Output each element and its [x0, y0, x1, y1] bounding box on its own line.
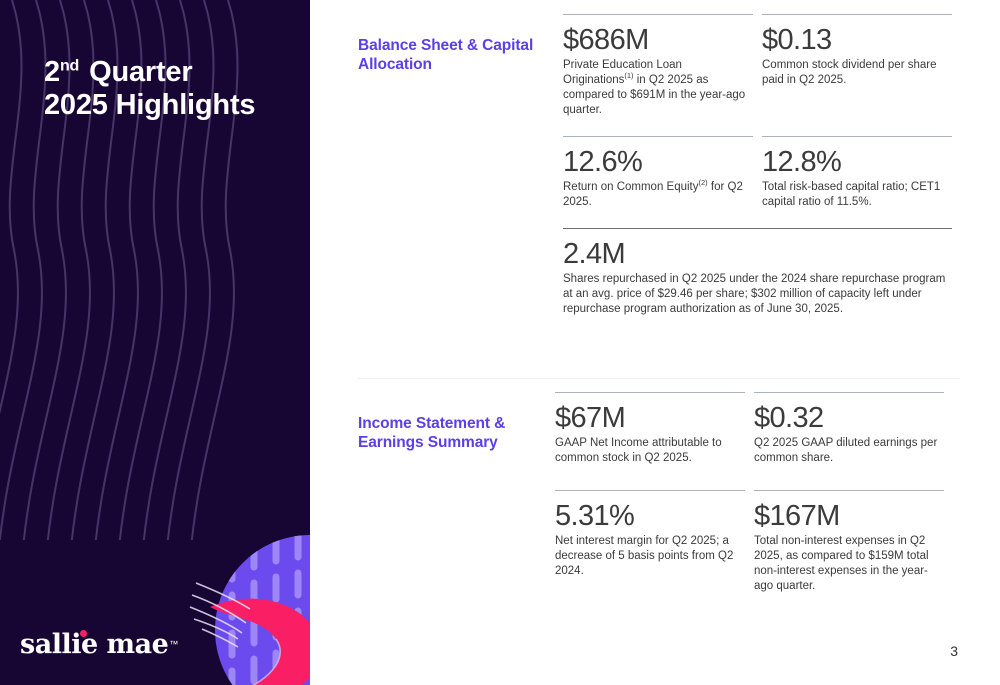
metric-value: $67M: [555, 401, 745, 435]
card-rule: [754, 392, 944, 393]
metric-row: $67M GAAP Net Income attributable to com…: [555, 392, 955, 466]
section-divider: [358, 378, 960, 379]
card-rule: [563, 228, 952, 229]
content-area: Balance Sheet & Capital Allocation $686M…: [310, 0, 1000, 685]
card-rule: [563, 14, 753, 15]
trademark-symbol: ™: [169, 639, 178, 649]
metric-description: Shares repurchased in Q2 2025 under the …: [563, 272, 952, 317]
metric-card: 2.4M Shares repurchased in Q2 2025 under…: [563, 228, 952, 317]
title-line1: 2ndQuarter: [44, 56, 192, 88]
metric-description: GAAP Net Income attributable to common s…: [555, 436, 745, 466]
metric-row: 12.6% Return on Common Equity(2) for Q2 …: [563, 136, 963, 210]
slide-root: 2ndQuarter 2025 Highlights: [0, 0, 1000, 685]
metric-value: 12.6%: [563, 145, 753, 179]
metric-card: $0.32 Q2 2025 GAAP diluted earnings per …: [754, 392, 944, 466]
metric-description: Return on Common Equity(2) for Q2 2025.: [563, 180, 753, 210]
metric-description: Total risk-based capital ratio; CET1 cap…: [762, 180, 952, 210]
metric-card: $686M Private Education Loan Origination…: [563, 14, 753, 118]
metric-value: 12.8%: [762, 145, 952, 179]
metric-description: Private Education Loan Originations(1) i…: [563, 58, 753, 118]
footnote-marker: (2): [699, 178, 708, 187]
metric-card: 12.6% Return on Common Equity(2) for Q2 …: [563, 136, 753, 210]
card-rule: [762, 14, 952, 15]
metric-value: 5.31%: [555, 499, 745, 533]
metric-row: $686M Private Education Loan Origination…: [563, 14, 963, 118]
metric-card: 12.8% Total risk-based capital ratio; CE…: [762, 136, 952, 210]
metric-value: $167M: [754, 499, 944, 533]
card-rule: [762, 136, 952, 137]
metric-value: $686M: [563, 23, 753, 57]
title-panel: 2ndQuarter 2025 Highlights: [0, 0, 310, 685]
sallie-mae-logo: sallie mae™: [20, 629, 178, 659]
metric-card: $167M Total non-interest expenses in Q2 …: [754, 490, 944, 594]
page-number: 3: [950, 643, 958, 659]
section-title: Balance Sheet & Capital Allocation: [358, 36, 558, 74]
logo-wordmark: sallie mae: [20, 629, 168, 660]
deck-title: 2ndQuarter 2025 Highlights: [44, 56, 255, 122]
footnote-marker: (1): [624, 71, 633, 80]
metric-value: $0.32: [754, 401, 944, 435]
metric-value: 2.4M: [563, 237, 952, 271]
metric-description: Q2 2025 GAAP diluted earnings per common…: [754, 436, 944, 466]
section-title: Income Statement & Earnings Summary: [358, 414, 558, 452]
metric-description: Common stock dividend per share paid in …: [762, 58, 952, 88]
metric-value: $0.13: [762, 23, 952, 57]
metric-grid: $686M Private Education Loan Origination…: [563, 14, 963, 317]
card-rule: [563, 136, 753, 137]
metric-description: Total non-interest expenses in Q2 2025, …: [754, 534, 944, 594]
metric-card: $67M GAAP Net Income attributable to com…: [555, 392, 745, 466]
card-rule: [754, 490, 944, 491]
title-line2: 2025 Highlights: [44, 89, 255, 121]
card-rule: [555, 490, 745, 491]
metric-row: 5.31% Net interest margin for Q2 2025; a…: [555, 490, 955, 594]
metric-description: Net interest margin for Q2 2025; a decre…: [555, 534, 745, 579]
card-rule: [555, 392, 745, 393]
metric-card: $0.13 Common stock dividend per share pa…: [762, 14, 952, 118]
metric-row: 2.4M Shares repurchased in Q2 2025 under…: [563, 228, 963, 317]
metric-card: 5.31% Net interest margin for Q2 2025; a…: [555, 490, 745, 594]
logo-dot-icon: [80, 630, 87, 637]
title-ordinal-suffix: nd: [60, 57, 79, 74]
metric-grid: $67M GAAP Net Income attributable to com…: [555, 392, 955, 594]
